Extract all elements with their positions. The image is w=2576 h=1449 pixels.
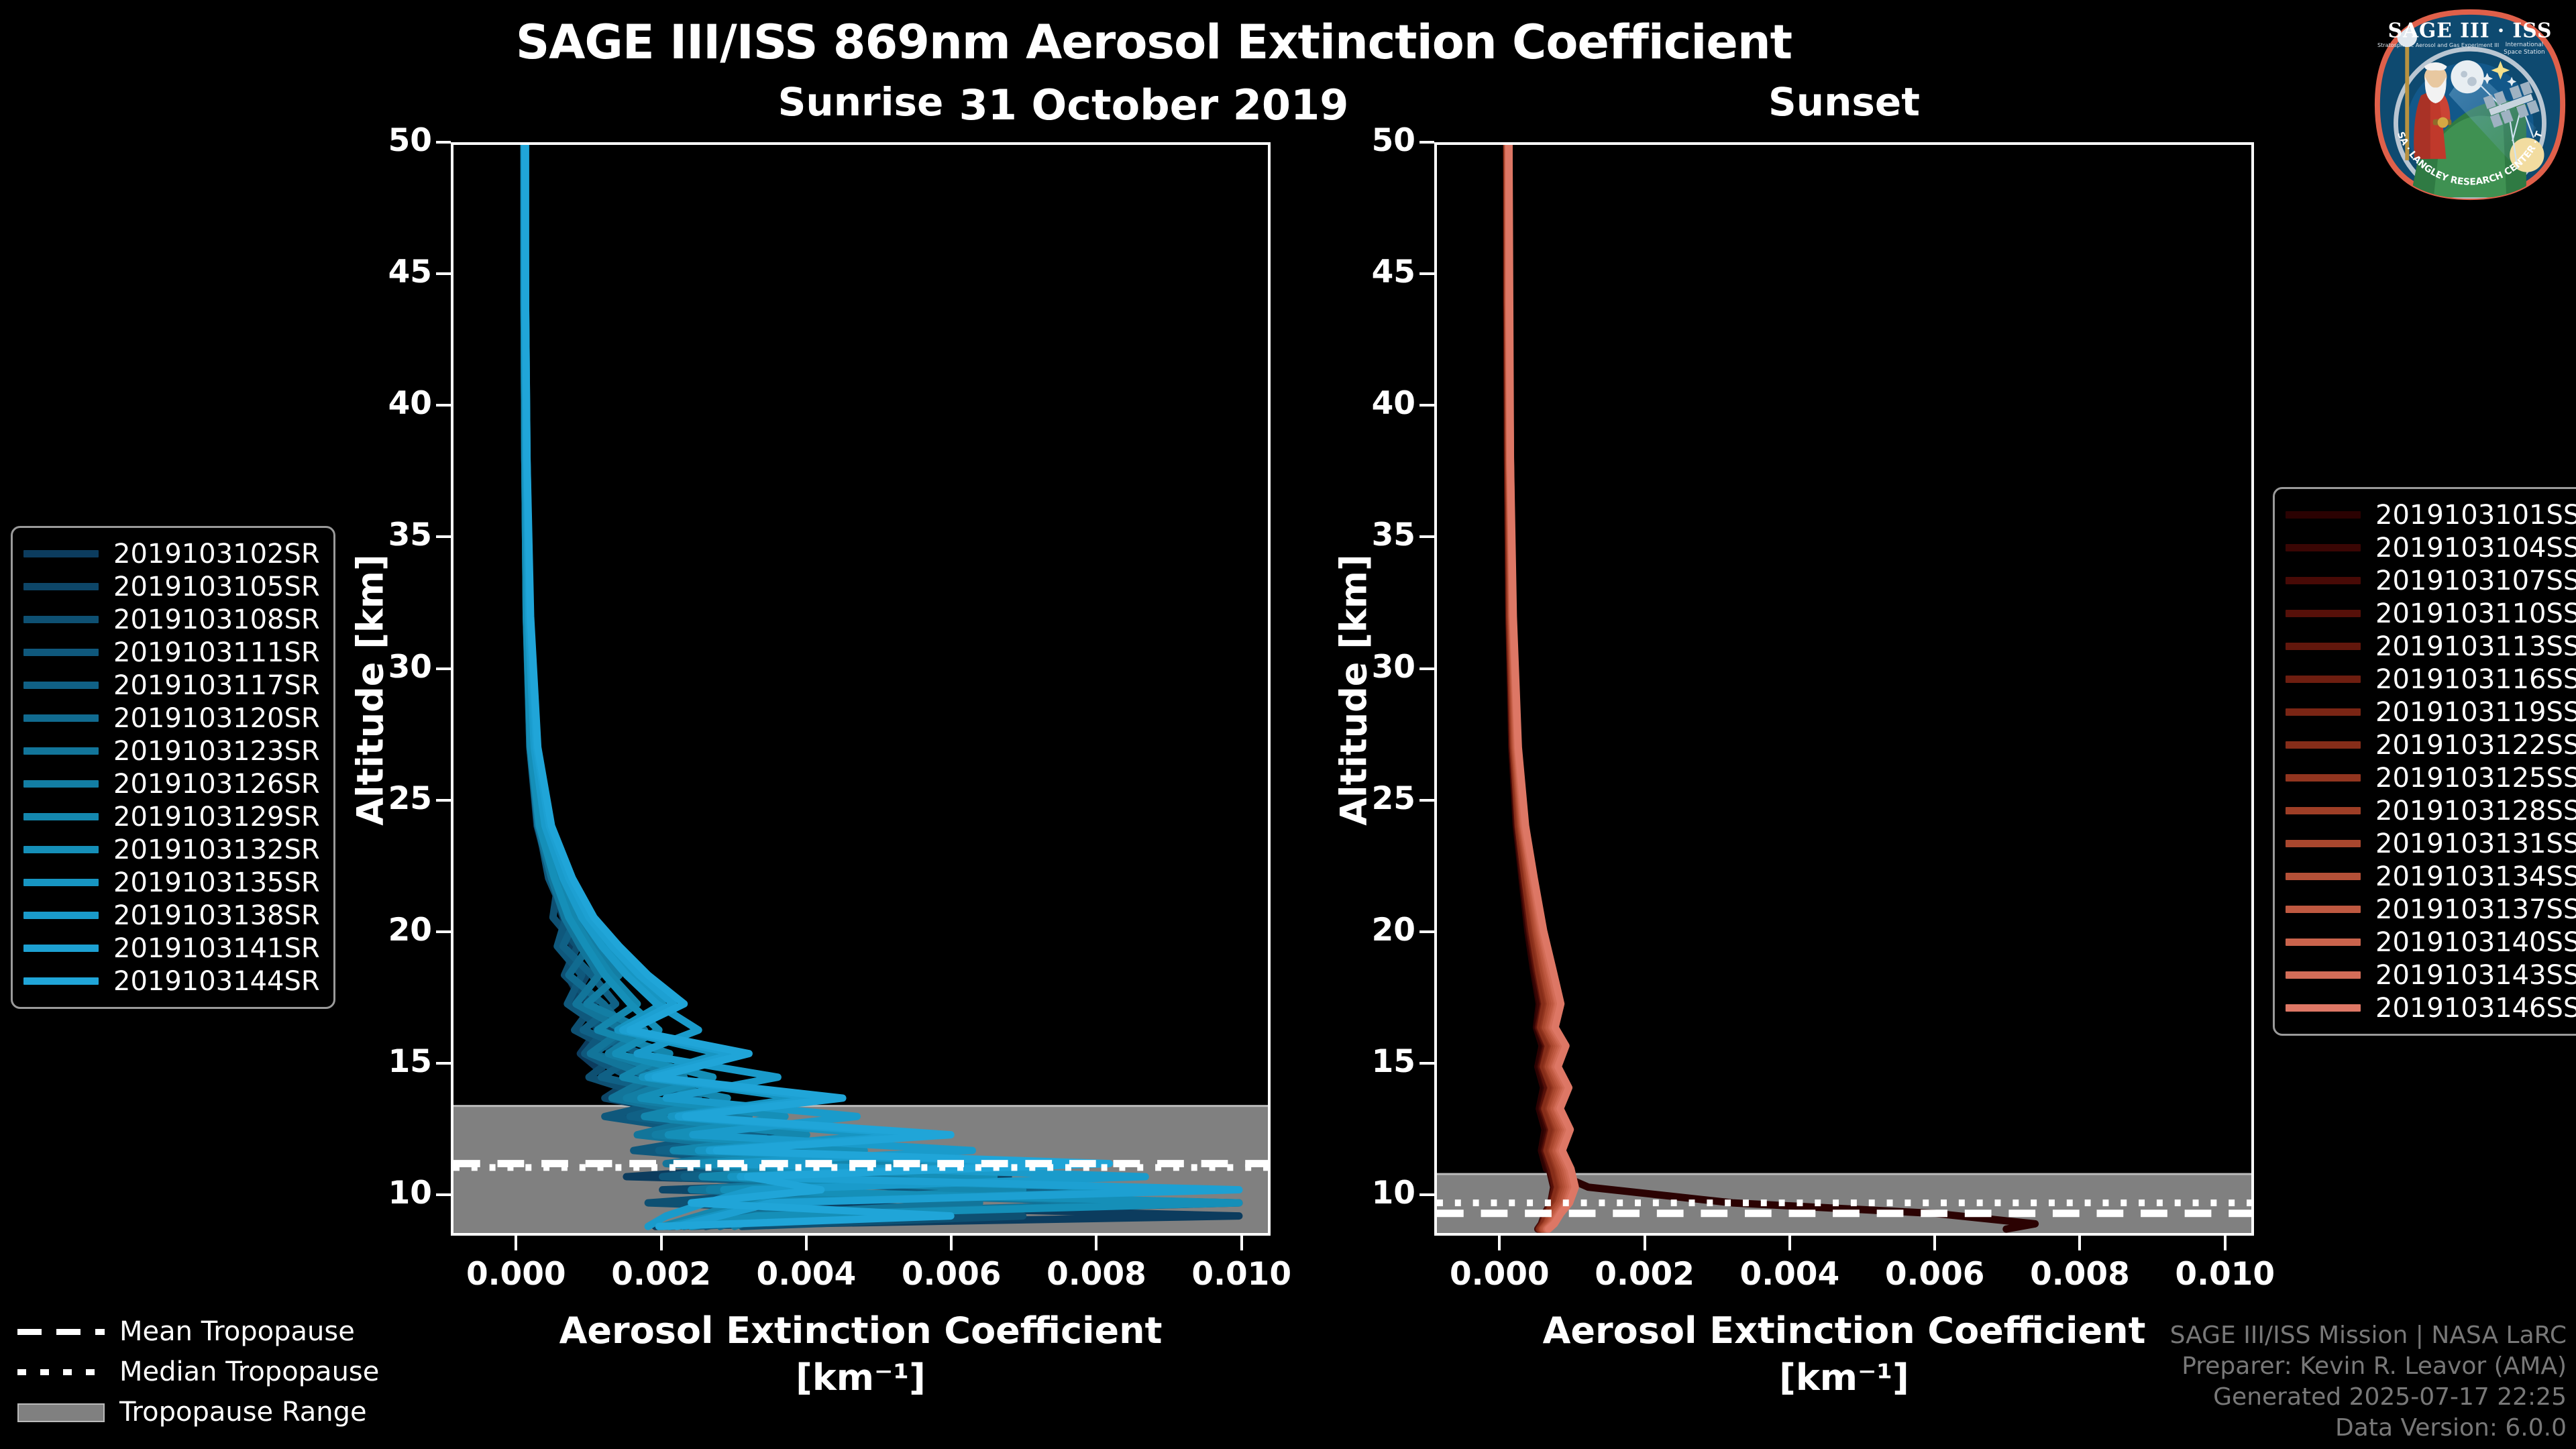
legend-entry-label: 2019103135SR (113, 869, 320, 896)
sunrise-legend-entry[interactable]: 2019103129SR (23, 800, 320, 833)
legend-color-swatch (23, 780, 99, 788)
tropopause-legend-row: Tropopause Range (17, 1392, 379, 1432)
logo-title: SAGE III · ISS (2388, 18, 2553, 42)
legend-entry-label: 2019103102SR (113, 541, 320, 568)
legend-entry-label: 2019103132SR (113, 837, 320, 863)
legend-color-swatch (2286, 906, 2361, 913)
sunrise-legend-entry[interactable]: 2019103108SR (23, 603, 320, 636)
y-axis-tick-label: 20 (331, 912, 432, 949)
legend-color-swatch (2286, 643, 2361, 650)
y-axis-tick-mark (1419, 141, 1434, 144)
tropopause-dash-glyph (17, 1329, 105, 1335)
legend-entry-label: 2019103101SS (2375, 502, 2576, 529)
legend-color-swatch (23, 649, 99, 656)
y-axis-tick-mark (1419, 667, 1434, 670)
credits-line: Preparer: Kevin R. Leavor (AMA) (2170, 1351, 2567, 1382)
y-axis-title: Altitude [km] (350, 489, 392, 892)
x-axis-tick-mark (1240, 1236, 1243, 1250)
y-axis-tick-mark (1419, 404, 1434, 407)
legend-entry-label: 2019103144SR (113, 968, 320, 995)
sunset-legend-entry[interactable]: 2019103140SS (2286, 926, 2576, 959)
x-axis-tick-label: 0.010 (1155, 1256, 1329, 1293)
legend-color-swatch (2286, 971, 2361, 979)
sunrise-plot-panel (451, 142, 1271, 1236)
legend-entry-label: 2019103123SR (113, 738, 320, 765)
tropopause-legend-label: Tropopause Range (119, 1397, 367, 1428)
y-axis-tick-mark (436, 535, 451, 538)
sunrise-legend: 2019103102SR2019103105SR2019103108SR2019… (11, 526, 335, 1009)
y-axis-tick-mark (436, 930, 451, 933)
legend-color-swatch (2286, 741, 2361, 749)
sunset-legend-entry[interactable]: 2019103116SS (2286, 663, 2576, 696)
y-axis-tick-label: 45 (331, 254, 432, 290)
y-axis-tick-label: 40 (1315, 385, 1415, 422)
y-axis-tick-mark (436, 1193, 451, 1196)
legend-entry-label: 2019103119SS (2375, 699, 2576, 726)
y-axis-tick-label: 50 (1315, 122, 1415, 159)
y-axis-tick-mark (436, 404, 451, 407)
legend-color-swatch (2286, 873, 2361, 880)
y-axis-tick-label: 45 (1315, 254, 1415, 290)
legend-entry-label: 2019103143SS (2375, 962, 2576, 989)
x-axis-tick-mark (2078, 1236, 2081, 1250)
tropopause-dot-glyph (17, 1369, 105, 1375)
legend-color-swatch (23, 747, 99, 755)
legend-entry-label: 2019103108SR (113, 606, 320, 633)
sunset-plot-panel (1434, 142, 2254, 1236)
y-axis-tick-label: 40 (331, 385, 432, 422)
y-axis-tick-mark (1419, 535, 1434, 538)
legend-entry-label: 2019103134SS (2375, 863, 2576, 890)
legend-entry-label: 2019103126SR (113, 771, 320, 798)
sunrise-legend-entry[interactable]: 2019103105SR (23, 570, 320, 603)
legend-color-swatch (23, 879, 99, 886)
x-axis-tick-mark (950, 1236, 953, 1250)
legend-entry-label: 2019103137SS (2375, 896, 2576, 923)
credits-block: SAGE III/ISS Mission | NASA LaRCPreparer… (2170, 1320, 2567, 1444)
y-axis-tick-mark (1419, 272, 1434, 275)
sunset-legend-entry[interactable]: 2019103122SS (2286, 729, 2576, 761)
sunset-legend-entry[interactable]: 2019103128SS (2286, 794, 2576, 827)
page-title: SAGE III/ISS 869nm Aerosol Extinction Co… (0, 15, 2308, 70)
sunrise-legend-entry[interactable]: 2019103120SR (23, 702, 320, 735)
y-axis-tick-mark (436, 141, 451, 144)
legend-entry-label: 2019103104SS (2375, 535, 2576, 561)
x-axis-tick-label: 0.010 (2138, 1256, 2312, 1293)
y-axis-tick-label: 50 (331, 122, 432, 159)
y-axis-tick-mark (1419, 930, 1434, 933)
x-axis-tick-mark (1788, 1236, 1791, 1250)
sunset-legend-entry[interactable]: 2019103113SS (2286, 630, 2576, 663)
sunrise-legend-entry[interactable]: 2019103102SR (23, 537, 320, 570)
x-axis-tick-mark (1095, 1236, 1097, 1250)
x-axis-tick-mark (805, 1236, 808, 1250)
legend-color-swatch (2286, 511, 2361, 519)
sunset-legend: 2019103101SS2019103104SS2019103107SS2019… (2273, 487, 2576, 1036)
legend-entry-label: 2019103107SS (2375, 568, 2576, 594)
sunset-legend-entry[interactable]: 2019103134SS (2286, 860, 2576, 893)
y-axis-title: Altitude [km] (1333, 489, 1375, 892)
legend-color-swatch (23, 583, 99, 590)
x-axis-title: Aerosol Extinction Coefficient (451, 1309, 1271, 1352)
legend-color-swatch (2286, 774, 2361, 782)
x-axis-title: Aerosol Extinction Coefficient (1434, 1309, 2254, 1352)
y-axis-tick-label: 20 (1315, 912, 1415, 949)
legend-entry-label: 2019103120SR (113, 705, 320, 732)
sunset-legend-entry[interactable]: 2019103119SS (2286, 696, 2576, 729)
logo-subtitle-right-1: International (2506, 42, 2544, 48)
legend-color-swatch (23, 714, 99, 722)
legend-color-swatch (2286, 938, 2361, 946)
x-axis-tick-mark (1498, 1236, 1501, 1250)
y-axis-tick-mark (1419, 1062, 1434, 1065)
legend-entry-label: 2019103111SR (113, 639, 320, 666)
y-axis-tick-label: 10 (331, 1175, 432, 1212)
legend-entry-label: 2019103138SR (113, 902, 320, 929)
sunset-legend-entry[interactable]: 2019103104SS (2286, 531, 2576, 564)
legend-color-swatch (2286, 577, 2361, 584)
sunrise-legend-entry[interactable]: 2019103144SR (23, 965, 320, 998)
legend-entry-label: 2019103117SR (113, 672, 320, 699)
sunset-legend-entry[interactable]: 2019103146SS (2286, 991, 2576, 1024)
legend-color-swatch (23, 912, 99, 919)
sunrise-legend-entry[interactable]: 2019103111SR (23, 636, 320, 669)
sage-iii-iss-mission-patch-logo: SAGE III · ISS Stratospheric Aerosol and… (2371, 5, 2569, 204)
sunrise-legend-entry[interactable]: 2019103123SR (23, 735, 320, 767)
legend-entry-label: 2019103116SS (2375, 666, 2576, 693)
credits-line: Generated 2025-07-17 22:25 (2170, 1382, 2567, 1413)
legend-color-swatch (23, 682, 99, 689)
logo-subtitle-left: Stratospheric Aerosol and Gas Experiment… (2377, 42, 2499, 48)
sunrise-legend-entry[interactable]: 2019103132SR (23, 833, 320, 866)
sunset-legend-entry[interactable]: 2019103101SS (2286, 498, 2576, 531)
x-axis-tick-mark (2224, 1236, 2226, 1250)
sunrise-panel-title: Sunrise (451, 79, 1271, 125)
x-axis-unit: [km⁻¹] (451, 1356, 1271, 1399)
credits-line: SAGE III/ISS Mission | NASA LaRC (2170, 1320, 2567, 1351)
credits-line: Data Version: 6.0.0 (2170, 1413, 2567, 1444)
legend-color-swatch (2286, 840, 2361, 847)
sunset-legend-entry[interactable]: 2019103131SS (2286, 827, 2576, 860)
sunset-legend-entry[interactable]: 2019103143SS (2286, 959, 2576, 991)
legend-color-swatch (2286, 807, 2361, 814)
legend-color-swatch (2286, 676, 2361, 683)
legend-color-swatch (2286, 544, 2361, 551)
tropopause-legend-label: Median Tropopause (119, 1356, 379, 1387)
sunrise-plot-svg (453, 145, 1268, 1233)
series-line (1507, 145, 2035, 1229)
legend-entry-label: 2019103113SS (2375, 633, 2576, 660)
tropopause-legend-row: Median Tropopause (17, 1352, 379, 1392)
sunset-legend-entry[interactable]: 2019103137SS (2286, 893, 2576, 926)
x-axis-tick-mark (660, 1236, 663, 1250)
tropopause-range-glyph (17, 1403, 105, 1422)
legend-color-swatch (2286, 1004, 2361, 1012)
y-axis-tick-label: 10 (1315, 1175, 1415, 1212)
sunrise-legend-entry[interactable]: 2019103126SR (23, 767, 320, 800)
x-axis-unit: [km⁻¹] (1434, 1356, 2254, 1399)
tropopause-legend: Mean TropopauseMedian TropopauseTropopau… (17, 1311, 379, 1432)
legend-entry-label: 2019103122SS (2375, 732, 2576, 759)
y-axis-tick-mark (436, 667, 451, 670)
y-axis-tick-mark (436, 272, 451, 275)
x-axis-tick-mark (1933, 1236, 1936, 1250)
sunset-legend-entry[interactable]: 2019103125SS (2286, 761, 2576, 794)
sunrise-legend-entry[interactable]: 2019103138SR (23, 899, 320, 932)
tropopause-legend-row: Mean Tropopause (17, 1311, 379, 1352)
tropopause-dot-key-icon (17, 1362, 105, 1382)
legend-entry-label: 2019103140SS (2375, 929, 2576, 956)
legend-color-swatch (23, 550, 99, 557)
sunrise-legend-entry[interactable]: 2019103135SR (23, 866, 320, 899)
legend-entry-label: 2019103125SS (2375, 765, 2576, 792)
legend-color-swatch (23, 846, 99, 853)
x-axis-tick-mark (515, 1236, 517, 1250)
logo-subtitle-right-2: Space Station (2504, 49, 2544, 56)
legend-entry-label: 2019103129SR (113, 804, 320, 830)
sunset-panel-title: Sunset (1434, 79, 2254, 125)
legend-color-swatch (23, 977, 99, 985)
legend-color-swatch (2286, 610, 2361, 617)
y-axis-tick-mark (1419, 1193, 1434, 1196)
tropopause-range-key-icon (17, 1402, 105, 1422)
tropopause-legend-label: Mean Tropopause (119, 1316, 355, 1347)
sunset-legend-entry[interactable]: 2019103110SS (2286, 597, 2576, 630)
y-axis-tick-mark (436, 799, 451, 802)
legend-color-swatch (23, 616, 99, 623)
sunset-plot-svg (1437, 145, 2251, 1233)
x-axis-tick-mark (1644, 1236, 1646, 1250)
legend-color-swatch (2286, 708, 2361, 716)
sunrise-legend-entry[interactable]: 2019103141SR (23, 932, 320, 965)
sunset-legend-entry[interactable]: 2019103107SS (2286, 564, 2576, 597)
y-axis-tick-mark (436, 1062, 451, 1065)
y-axis-tick-mark (1419, 799, 1434, 802)
legend-entry-label: 2019103128SS (2375, 798, 2576, 824)
y-axis-tick-label: 15 (331, 1043, 432, 1080)
y-axis-tick-label: 15 (1315, 1043, 1415, 1080)
legend-entry-label: 2019103105SR (113, 574, 320, 600)
legend-entry-label: 2019103141SR (113, 935, 320, 962)
sunrise-legend-entry[interactable]: 2019103117SR (23, 669, 320, 702)
tropopause-dash-key-icon (17, 1322, 105, 1342)
legend-entry-label: 2019103110SS (2375, 600, 2576, 627)
legend-entry-label: 2019103146SS (2375, 995, 2576, 1022)
legend-color-swatch (23, 945, 99, 952)
legend-color-swatch (23, 813, 99, 820)
legend-entry-label: 2019103131SS (2375, 830, 2576, 857)
